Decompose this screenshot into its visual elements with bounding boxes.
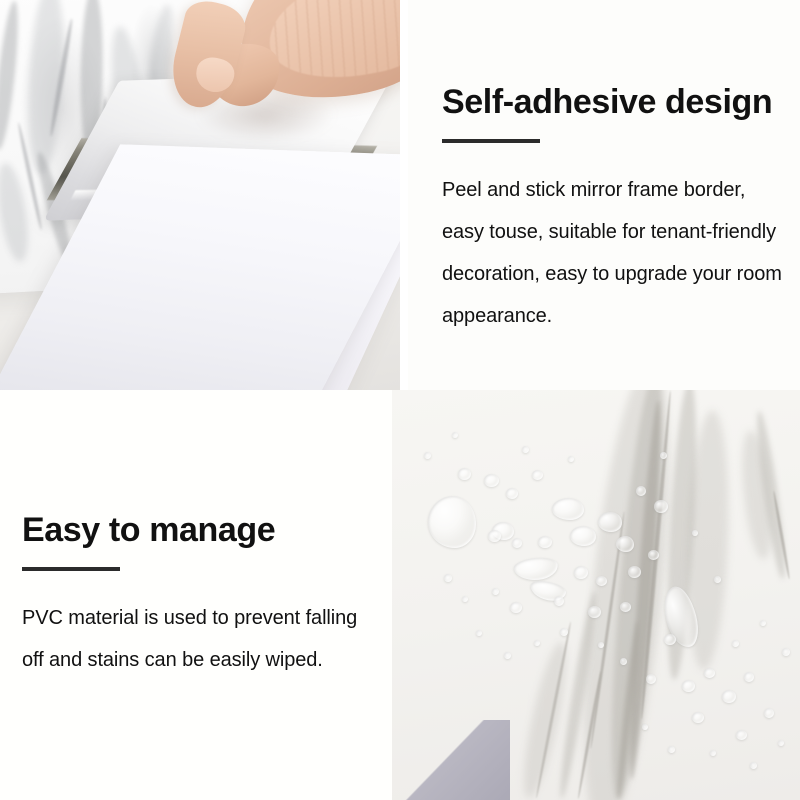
water-droplet bbox=[504, 652, 511, 659]
peel-photo bbox=[0, 0, 400, 390]
water-droplet bbox=[636, 486, 646, 496]
water-droplet bbox=[424, 452, 431, 459]
water-droplet bbox=[492, 588, 499, 595]
water-droplet bbox=[574, 566, 588, 579]
water-droplet bbox=[682, 680, 695, 692]
panel-corner-edge bbox=[392, 720, 510, 800]
water-droplet bbox=[532, 470, 543, 480]
water-droplet bbox=[428, 496, 476, 548]
water-droplet bbox=[620, 602, 631, 612]
water-droplet bbox=[570, 526, 596, 546]
water-droplet bbox=[732, 640, 739, 647]
water-droplet bbox=[452, 432, 458, 438]
feature-block-self-adhesive: Self-adhesive design Peel and stick mirr… bbox=[408, 0, 800, 390]
water-droplet bbox=[522, 446, 529, 453]
water-droplet bbox=[476, 630, 482, 636]
water-droplet bbox=[596, 576, 607, 586]
water-droplet bbox=[598, 512, 622, 532]
water-droplet bbox=[714, 576, 721, 583]
water-photo bbox=[392, 390, 800, 800]
feature-headline-easy-to-manage: Easy to manage bbox=[22, 510, 380, 550]
water-droplet bbox=[534, 640, 540, 646]
water-droplet bbox=[538, 536, 552, 548]
water-droplet bbox=[692, 530, 698, 536]
water-droplet bbox=[552, 498, 584, 520]
water-droplet bbox=[660, 452, 667, 459]
water-droplet bbox=[620, 658, 627, 665]
water-droplet bbox=[764, 708, 774, 718]
water-droplet bbox=[648, 550, 659, 560]
water-droplet bbox=[568, 456, 574, 462]
feature-headline-self-adhesive: Self-adhesive design bbox=[442, 82, 782, 122]
water-droplet bbox=[616, 536, 634, 552]
water-droplet bbox=[722, 690, 736, 703]
water-droplet bbox=[462, 596, 468, 602]
product-feature-infographic: Self-adhesive design Peel and stick mirr… bbox=[0, 0, 800, 800]
water-droplet bbox=[510, 602, 522, 613]
feature-block-easy-to-manage: Easy to manage PVC material is used to p… bbox=[0, 390, 392, 800]
water-droplet bbox=[506, 488, 518, 499]
water-droplet bbox=[668, 746, 675, 753]
feature-body-self-adhesive: Peel and stick mirror frame border, easy… bbox=[442, 169, 782, 337]
water-droplet bbox=[760, 620, 766, 626]
water-droplet bbox=[512, 538, 522, 548]
water-droplet bbox=[778, 740, 784, 746]
hand-shadow bbox=[196, 96, 336, 142]
water-droplet bbox=[736, 730, 747, 740]
water-droplet bbox=[588, 606, 601, 618]
feature-body-easy-to-manage: PVC material is used to prevent falling … bbox=[22, 597, 380, 681]
water-droplet bbox=[692, 712, 704, 723]
accent-rule bbox=[442, 139, 540, 143]
water-droplet bbox=[484, 474, 499, 487]
water-droplet bbox=[642, 724, 648, 730]
water-droplet bbox=[654, 500, 668, 513]
water-droplet bbox=[782, 648, 790, 656]
water-droplet bbox=[560, 628, 568, 636]
water-droplet bbox=[598, 642, 604, 648]
water-droplet bbox=[750, 762, 757, 769]
water-droplet bbox=[744, 672, 754, 682]
water-droplet bbox=[444, 574, 452, 582]
water-droplet bbox=[628, 566, 641, 578]
water-droplet bbox=[704, 668, 715, 678]
water-droplet bbox=[710, 750, 716, 756]
accent-rule bbox=[22, 567, 120, 571]
water-droplet bbox=[664, 634, 676, 645]
water-droplet bbox=[488, 530, 501, 542]
water-droplet bbox=[554, 596, 564, 606]
water-droplet bbox=[458, 468, 471, 480]
water-droplet bbox=[646, 674, 656, 684]
